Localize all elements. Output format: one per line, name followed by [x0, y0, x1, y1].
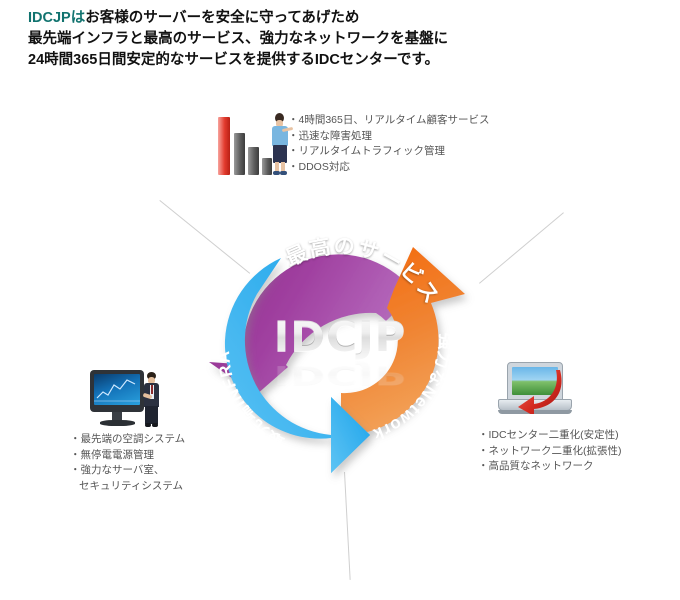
- bar-gray-2-icon: [248, 147, 259, 175]
- bullet-list-service: ・4時間365日、リアルタイム顧客サービス ・迅速な障害処理 ・リアルタイムトラ…: [288, 113, 490, 175]
- bullet-item: ・DDOS対応: [288, 160, 490, 176]
- bullet-item: ・最先端の空調システム: [70, 432, 185, 448]
- bar-gray-3-icon: [262, 158, 272, 175]
- red-refresh-arrow-icon: [516, 366, 568, 414]
- header-line-1: IDCJPはお客様のサーバーを安全に守ってあげため: [28, 8, 668, 29]
- laptop-arrow-icon: [498, 362, 576, 424]
- cycle-diagram: 最高のサービス 強力なNetwork 最先端INFRA IDCJP IDCJP: [165, 190, 515, 500]
- brand-word: IDCJPは: [28, 10, 85, 26]
- monitor-screen-icon: [94, 374, 140, 405]
- page-title: IDCJPはお客様のサーバーを安全に守ってあげため 最先端インフラと最高のサービ…: [28, 8, 668, 71]
- bullet-item: ・高品質なネットワーク: [478, 459, 622, 475]
- bullet-item: ・迅速な障害処理: [288, 129, 490, 145]
- center-wordmark: IDCJP: [165, 312, 515, 361]
- bullet-item: セキュリティシステム: [70, 479, 185, 495]
- bullet-item: ・ネットワーク二重化(拡張性): [478, 444, 622, 460]
- bar-chart-person-icon: [216, 110, 286, 175]
- bullet-item: ・無停電電源管理: [70, 448, 185, 464]
- bullet-item: ・IDCセンター二重化(安定性): [478, 428, 622, 444]
- header-line-3: 24時間365日間安定的なサービスを提供するIDCセンターです。: [28, 50, 668, 71]
- bullet-list-network: ・IDCセンター二重化(安定性) ・ネットワーク二重化(拡張性) ・高品質なネッ…: [478, 428, 622, 475]
- bullet-list-infra: ・最先端の空調システム ・無停電電源管理 ・強力なサーバ室、 セキュリティシステ…: [70, 432, 185, 494]
- presenter-person-icon: [272, 113, 288, 175]
- header-line-2: 最先端インフラと最高のサービス、強力なネットワークを基盤に: [28, 29, 668, 50]
- infographic-canvas: IDCJPはお客様のサーバーを安全に守ってあげため 最先端インフラと最高のサービ…: [0, 0, 680, 600]
- monitor-businessman-icon: [90, 368, 172, 434]
- bar-gray-1-icon: [234, 133, 245, 175]
- monitor-base-icon: [100, 420, 135, 426]
- bar-red-icon: [218, 117, 230, 175]
- bullet-item: ・強力なサーバ室、: [70, 463, 185, 479]
- businessman-icon: [142, 372, 160, 430]
- center-wordmark-reflection: IDCJP: [165, 360, 515, 390]
- bullet-item: ・4時間365日、リアルタイム顧客サービス: [288, 113, 490, 129]
- bullet-item: ・リアルタイムトラフィック管理: [288, 144, 490, 160]
- monitor-bezel-icon: [90, 370, 144, 412]
- header-line-1-rest: お客様のサーバーを安全に守ってあげため: [85, 10, 359, 26]
